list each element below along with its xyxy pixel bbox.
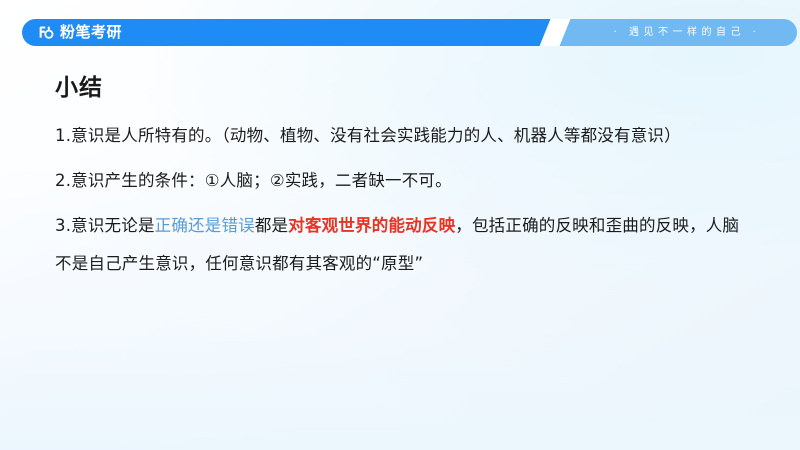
- paragraph-point-2: 2.意识产生的条件：①人脑；②实践，二者缺一不可。: [55, 162, 755, 200]
- paragraph-point-1: 1.意识是人所特有的。（动物、植物、没有社会实践能力的人、机器人等都没有意识）: [55, 117, 755, 155]
- brand-bar: 粉笔考研: [22, 19, 559, 46]
- text-segment: 1.意识是人所特有的。（动物、植物、没有社会实践能力的人、机器人等都没有意识）: [55, 126, 681, 145]
- text-segment: 2.意识产生的条件：①人脑；②实践，二者缺一不可。: [55, 171, 452, 190]
- fb-monogram-icon: [36, 23, 55, 42]
- slide-header: 粉笔考研 · 遇见不一样的自己 ·: [22, 19, 800, 46]
- tagline-pill: · 遇见不一样的自己 ·: [573, 19, 797, 46]
- text-segment: 都是: [255, 216, 288, 235]
- slide-canvas: 粉笔考研 · 遇见不一样的自己 · 小结 1.意识是人所特有的。（动物、植物、没…: [0, 0, 800, 450]
- text-segment: 3.意识无论是: [55, 216, 155, 235]
- highlight-blue-correct-or-wrong: 正确还是错误: [155, 216, 255, 235]
- page-title: 小结: [55, 75, 103, 103]
- highlight-red-active-reflection: 对客观世界的能动反映: [288, 216, 455, 235]
- slide-body: 1.意识是人所特有的。（动物、植物、没有社会实践能力的人、机器人等都没有意识） …: [55, 117, 755, 283]
- paragraph-point-3: 3.意识无论是正确还是错误都是对客观世界的能动反映，包括正确的反映和歪曲的反映，…: [55, 207, 755, 283]
- brand-name-label: 粉笔考研: [60, 25, 122, 40]
- tagline-label: · 遇见不一样的自己 ·: [610, 28, 761, 38]
